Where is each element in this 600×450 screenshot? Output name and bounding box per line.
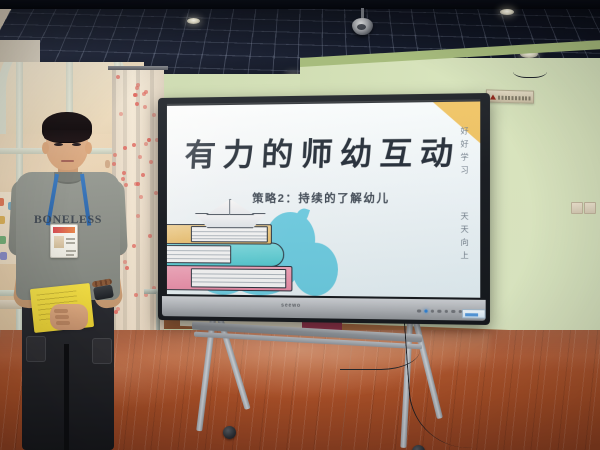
display-button[interactable] <box>445 309 449 313</box>
display-button[interactable] <box>438 309 442 313</box>
curtain-floral-motif <box>132 143 136 147</box>
wall-sign <box>486 89 534 103</box>
photo-scene: 有力的师幼互动 策略2：持续的了解幼儿 好好学习 天天向上 seewo <box>0 0 600 450</box>
curtain-floral-motif <box>139 195 143 199</box>
slide-vertical-text-bottom: 天天向上 <box>459 212 471 264</box>
person-hair <box>42 112 92 143</box>
id-badge <box>50 224 78 258</box>
book-stack-illustration <box>167 200 302 298</box>
display-power-indicator[interactable] <box>424 309 428 313</box>
interactive-flat-panel-display[interactable]: 有力的师幼互动 策略2：持续的了解幼儿 好好学习 天天向上 seewo <box>158 98 478 320</box>
ceiling-cable <box>513 62 547 78</box>
slide-title: 有力的师幼互动 <box>167 127 480 175</box>
power-outlet <box>571 202 583 214</box>
cargo-pocket <box>92 338 112 364</box>
boat-hull <box>195 213 266 228</box>
cargo-pocket <box>26 336 46 362</box>
wall-sign-text <box>498 95 531 100</box>
slide-vertical-text-top: 好好学习 <box>459 127 471 179</box>
stand-caster-wheel <box>223 426 236 439</box>
curtain-floral-motif <box>148 234 152 238</box>
display-button[interactable] <box>431 309 435 313</box>
display-button[interactable] <box>417 309 421 313</box>
person-presenter: BONELESS <box>6 108 128 450</box>
curtain-floral-motif <box>141 173 145 177</box>
book-pages <box>191 268 286 288</box>
person-hands <box>50 304 88 330</box>
ceiling-downlight-icon <box>500 9 514 15</box>
pants-leg-gap <box>64 344 69 450</box>
badge-header-band <box>53 227 75 233</box>
ear-right <box>85 142 92 154</box>
display-button[interactable] <box>451 309 455 313</box>
nose <box>105 160 110 168</box>
ear-left <box>42 142 49 154</box>
curtain-floral-motif <box>135 102 139 106</box>
display-control-buttons[interactable] <box>417 309 462 313</box>
power-cable <box>340 330 420 370</box>
ceiling-top-edge <box>0 0 600 9</box>
power-outlet <box>584 202 596 214</box>
display-bottom-bezel: seewo <box>162 296 486 321</box>
stand-caster-wheel <box>412 445 425 450</box>
display-brand-logo: seewo <box>281 303 301 309</box>
decoration-shape <box>0 198 4 206</box>
badge-photo <box>54 236 64 248</box>
ceiling-downlight-icon <box>187 18 200 24</box>
book-pages <box>167 245 231 264</box>
curtain-floral-motif <box>136 214 140 218</box>
presentation-slide: 有力的师幼互动 策略2：持续的了解幼儿 好好学习 天天向上 <box>167 101 480 297</box>
display-side-label <box>462 309 486 319</box>
display-screen[interactable]: 有力的师幼互动 策略2：持续的了解幼儿 好好学习 天天向上 <box>167 101 480 297</box>
curtain-floral-motif <box>142 92 146 96</box>
decoration-shape <box>0 216 5 224</box>
slide-subtitle: 策略2：持续的了解幼儿 <box>167 189 480 206</box>
curtain-floral-motif <box>138 155 142 159</box>
display-bezel: 有力的师幼互动 策略2：持续的了解幼儿 好好学习 天天向上 seewo <box>158 93 490 325</box>
book-pages <box>191 226 268 242</box>
